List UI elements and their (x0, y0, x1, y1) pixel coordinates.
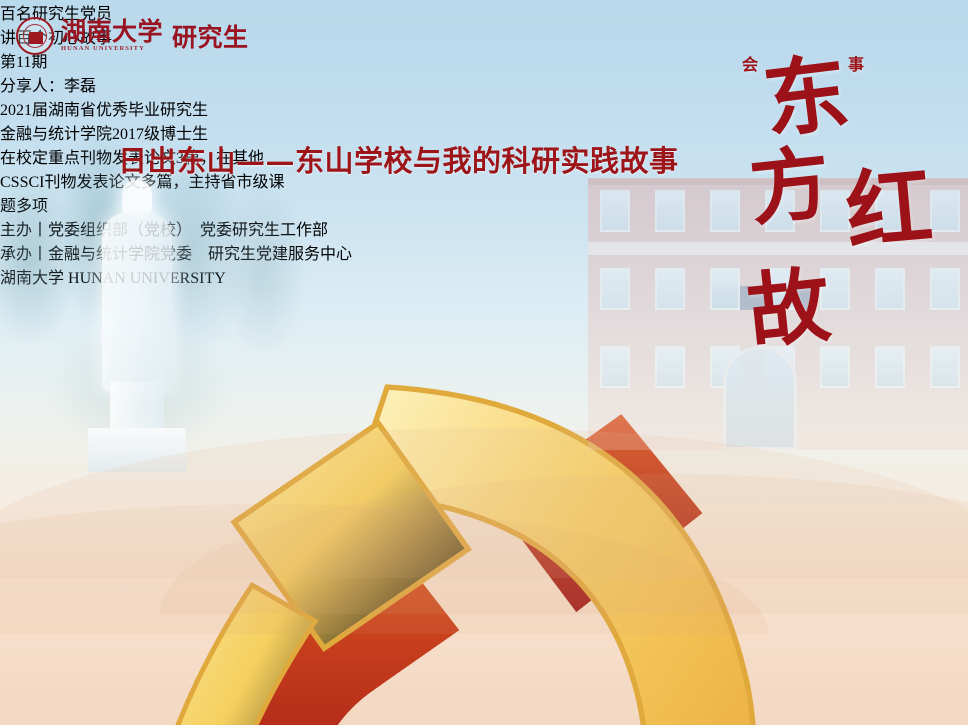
hunan-university-seal-icon (16, 17, 54, 55)
calligraphy-char-6: 会 (742, 58, 758, 73)
calligraphy-char-1: 东 (760, 53, 853, 140)
calligraphy-title: 东 方 红 故 事 会 (742, 58, 952, 498)
brand-name-en: HUNAN UNIVERSITY (61, 46, 163, 53)
calligraphy-char-3: 红 (843, 166, 936, 252)
header-brand: 湖南大学 HUNAN UNIVERSITY 研究生 (16, 17, 249, 55)
calligraphy-char-2: 方 (746, 146, 833, 228)
brand-wordmark: 湖南大学 HUNAN UNIVERSITY (61, 19, 163, 53)
footer-logo-en: HUNAN UNIVERSITY (68, 270, 226, 287)
page-title: 日出东山——东山学校与我的科研实践故事 (118, 138, 679, 180)
calligraphy-char-4: 故 (744, 268, 833, 352)
poster-canvas: 湖南大学 HUNAN UNIVERSITY 研究生 日出东山——东山学校与我的科… (0, 0, 968, 725)
brand-suffix-graduate: 研究生 (172, 18, 249, 54)
calligraphy-char-5: 事 (848, 58, 864, 73)
brand-name-cn: 湖南大学 (61, 19, 163, 44)
footer-logo-cn: 湖南大学 (0, 270, 64, 287)
